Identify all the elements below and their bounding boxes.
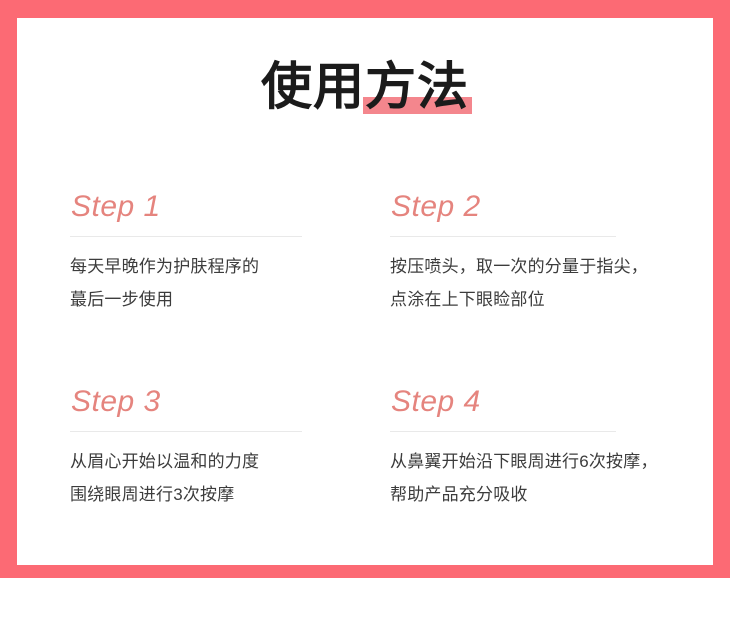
title-text: 使用方法: [261, 56, 469, 118]
step-description-3: 从眉心开始以温和的力度 围绕眼周进行3次按摩: [70, 445, 390, 511]
steps-grid: Step 1 每天早晚作为护肤程序的 蕞后一步使用 Step 2 按压喷头，取一…: [70, 188, 670, 578]
page-title: 使用方法: [17, 56, 713, 126]
step-divider-2: [390, 236, 616, 237]
step-label-3: Step 3: [70, 383, 390, 421]
step-description-2: 按压喷头，取一次的分量于指尖， 点涂在上下眼睑部位: [390, 250, 670, 316]
title-highlighted-part: 方法: [365, 56, 469, 118]
step-card-1: Step 1 每天早晚作为护肤程序的 蕞后一步使用: [70, 188, 390, 383]
step-card-4: Step 4 从鼻翼开始沿下眼周进行6次按摩， 帮助产品充分吸收: [390, 383, 670, 578]
title-plain-part: 使用: [261, 58, 365, 115]
step-description-1: 每天早晚作为护肤程序的 蕞后一步使用: [70, 250, 390, 316]
step-divider-3: [70, 431, 302, 432]
step-card-3: Step 3 从眉心开始以温和的力度 围绕眼周进行3次按摩: [70, 383, 390, 578]
step-card-2: Step 2 按压喷头，取一次的分量于指尖， 点涂在上下眼睑部位: [390, 188, 670, 383]
step-description-4: 从鼻翼开始沿下眼周进行6次按摩， 帮助产品充分吸收: [390, 445, 670, 511]
poster-frame: 使用方法 Step 1 每天早晚作为护肤程序的 蕞后一步使用 Step 2 按压…: [0, 0, 730, 578]
step-label-4: Step 4: [390, 383, 670, 421]
poster-content-area: 使用方法 Step 1 每天早晚作为护肤程序的 蕞后一步使用 Step 2 按压…: [17, 18, 713, 565]
step-divider-4: [390, 431, 616, 432]
bottom-whitespace: [0, 578, 730, 630]
step-divider-1: [70, 236, 302, 237]
step-label-2: Step 2: [390, 188, 670, 226]
step-label-1: Step 1: [70, 188, 390, 226]
